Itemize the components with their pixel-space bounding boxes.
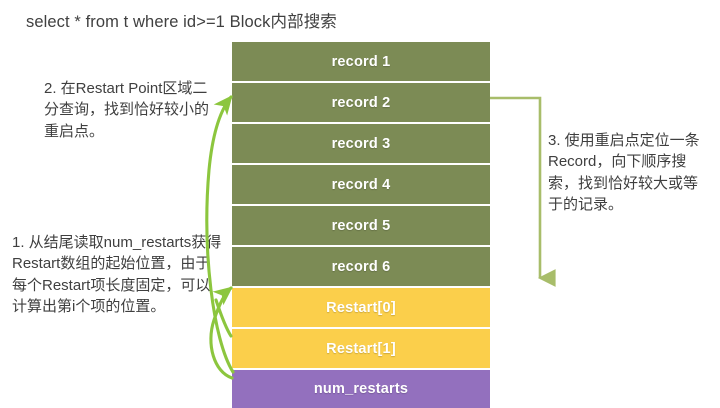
block-row-record-6: record 6 [232,247,490,286]
block-row-label: record 2 [332,95,391,111]
block-row-label: Restart[1] [326,341,396,357]
block-row-record-4: record 4 [232,165,490,204]
block-row-label: num_restarts [314,381,408,397]
block-row-restart-1: Restart[1] [232,329,490,368]
block-row-record-3: record 3 [232,124,490,163]
block-row-record-1: record 1 [232,42,490,81]
block-row-label: record 4 [332,177,391,193]
annotation-step-3: 3. 使用重启点定位一条Record，向下顺序搜索，找到恰好较大或等于的记录。 [548,130,712,215]
annotation-step-2: 2. 在Restart Point区域二分查询，找到恰好较小的重启点。 [44,78,222,142]
block-row-restart-0: Restart[0] [232,288,490,327]
block-row-label: record 6 [332,259,391,275]
block-layout-diagram: record 1 record 2 record 3 record 4 reco… [232,42,490,390]
arrow-record-2-scan-down [490,98,540,278]
block-row-label: record 1 [332,54,391,70]
block-row-label: Restart[0] [326,300,396,316]
page-title: select * from t where id>=1 Block内部搜索 [26,8,337,32]
block-row-label: record 3 [332,136,391,152]
annotation-step-1: 1. 从结尾读取num_restarts获得Restart数组的起始位置，由于每… [12,232,222,317]
block-row-record-5: record 5 [232,206,490,245]
block-row-label: record 5 [332,218,391,234]
block-row-record-2: record 2 [232,83,490,122]
block-row-num-restarts: num_restarts [232,370,490,408]
